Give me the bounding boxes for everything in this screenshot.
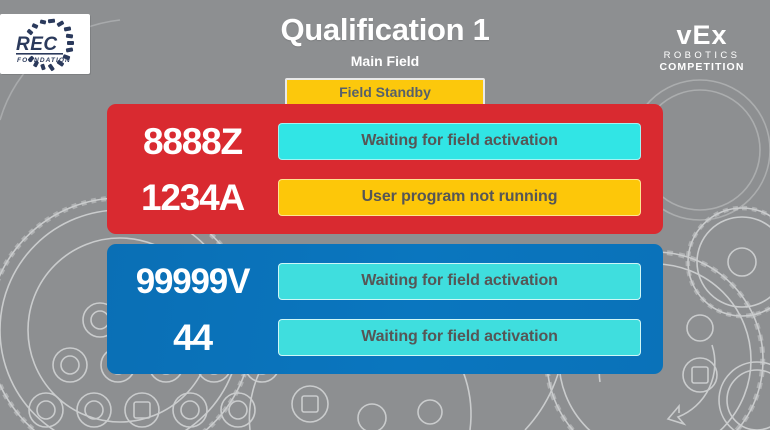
team-status-bar: Waiting for field activation xyxy=(278,123,641,160)
team-row: 44 Waiting for field activation xyxy=(125,316,641,358)
team-number: 8888Z xyxy=(125,123,260,160)
team-status-bar: Waiting for field activation xyxy=(278,263,641,300)
header: Qualification 1 Main Field Field Standby xyxy=(0,14,770,107)
page-title: Qualification 1 xyxy=(0,14,770,47)
field-display-screen: REC FOUNDATION vEx ROBOTICS COMPETITION … xyxy=(0,0,770,430)
team-number: 1234A xyxy=(125,179,260,216)
alliance-panel-red: 8888Z Waiting for field activation 1234A… xyxy=(107,104,663,234)
alliance-panel-blue: 99999V Waiting for field activation 44 W… xyxy=(107,244,663,374)
team-row: 8888Z Waiting for field activation xyxy=(125,120,641,162)
field-name-label: Main Field xyxy=(0,54,770,68)
team-number: 99999V xyxy=(125,264,260,299)
status-badge: Field Standby xyxy=(285,78,485,107)
team-row: 1234A User program not running xyxy=(125,176,641,218)
team-status-bar: Waiting for field activation xyxy=(278,319,641,356)
team-row: 99999V Waiting for field activation xyxy=(125,260,641,302)
team-status-bar: User program not running xyxy=(278,179,641,216)
team-number: 44 xyxy=(125,319,260,356)
